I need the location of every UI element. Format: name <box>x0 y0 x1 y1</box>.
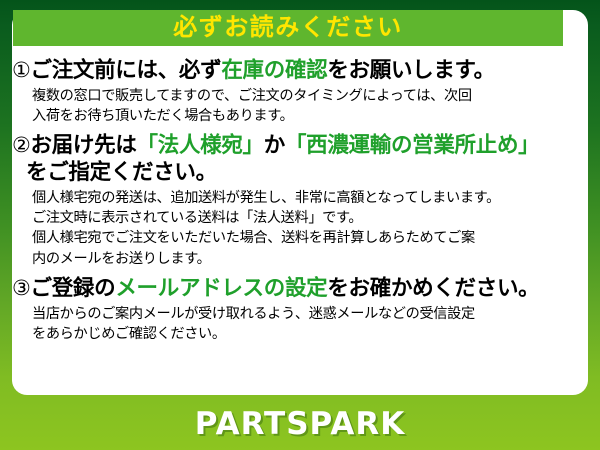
notice-item-1-heading-highlight: 在庫の確認 <box>221 58 327 82</box>
notice-item-1-number: ① <box>12 59 31 82</box>
notice-item-3-heading-part-3: をお確かめください。 <box>327 276 539 300</box>
notice-item-2: ②お届け先は「法人様宛」か「西濃運輸の営業所止め」をご指定ください。 個人様宅宛… <box>12 132 588 268</box>
notice-item-2-body: 個人様宅宛の発送は、追加送料が発生し、非常に高額となってしまいます。 ご注文時に… <box>12 188 588 269</box>
notice-item-2-heading-part-1: お届け先は <box>31 133 137 157</box>
notice-item-2-heading-highlight-1: 「法人様宛」 <box>137 133 264 157</box>
notice-item-2-heading-line2: をご指定ください。 <box>12 159 588 186</box>
notice-banner: 必ずお読みください ①ご注文前には、必ず在庫の確認をお願いします。 複数の窓口で… <box>0 0 600 450</box>
notice-item-3-heading-part-1: ご登録の <box>31 276 116 300</box>
notice-item-2-heading: ②お届け先は「法人様宛」か「西濃運輸の営業所止め」をご指定ください。 <box>12 132 588 186</box>
notice-item-1-heading: ①ご注文前には、必ず在庫の確認をお願いします。 <box>12 57 588 84</box>
brand-logo: PARTSPARK <box>195 406 406 442</box>
notice-item-1: ①ご注文前には、必ず在庫の確認をお願いします。 複数の窓口で販売してますので、ご… <box>12 57 588 126</box>
notice-item-3-body: 当店からのご案内メールが受け取れるよう、迷惑メールなどの受信設定 をあらかじめご… <box>12 304 588 344</box>
notice-item-2-heading-highlight-2: 「西濃運輸の営業所止め」 <box>285 133 539 157</box>
notice-item-1-heading-part-3: をお願いします。 <box>327 58 494 82</box>
header-banner: 必ずお読みください <box>13 10 563 46</box>
notice-item-3-heading-highlight: メールアドレスの設定 <box>115 276 327 300</box>
notice-item-1-heading-part-1: ご注文前には、必ず <box>31 58 222 82</box>
notice-item-1-body: 複数の窓口で販売してますので、ご注文のタイミングによっては、次回 入荷をお待ち頂… <box>12 86 588 126</box>
notice-item-3: ③ご登録のメールアドレスの設定をお確かめください。 当店からのご案内メールが受け… <box>12 275 588 344</box>
notice-items-list: ①ご注文前には、必ず在庫の確認をお願いします。 複数の窓口で販売してますので、ご… <box>12 57 588 350</box>
notice-item-3-heading: ③ご登録のメールアドレスの設定をお確かめください。 <box>12 275 588 302</box>
footer-bar: PARTSPARK <box>0 398 600 450</box>
page-title: 必ずお読みください <box>173 16 403 40</box>
notice-item-2-number: ② <box>12 134 31 157</box>
notice-item-2-heading-part-3: か <box>264 133 285 157</box>
notice-item-3-number: ③ <box>12 277 31 300</box>
